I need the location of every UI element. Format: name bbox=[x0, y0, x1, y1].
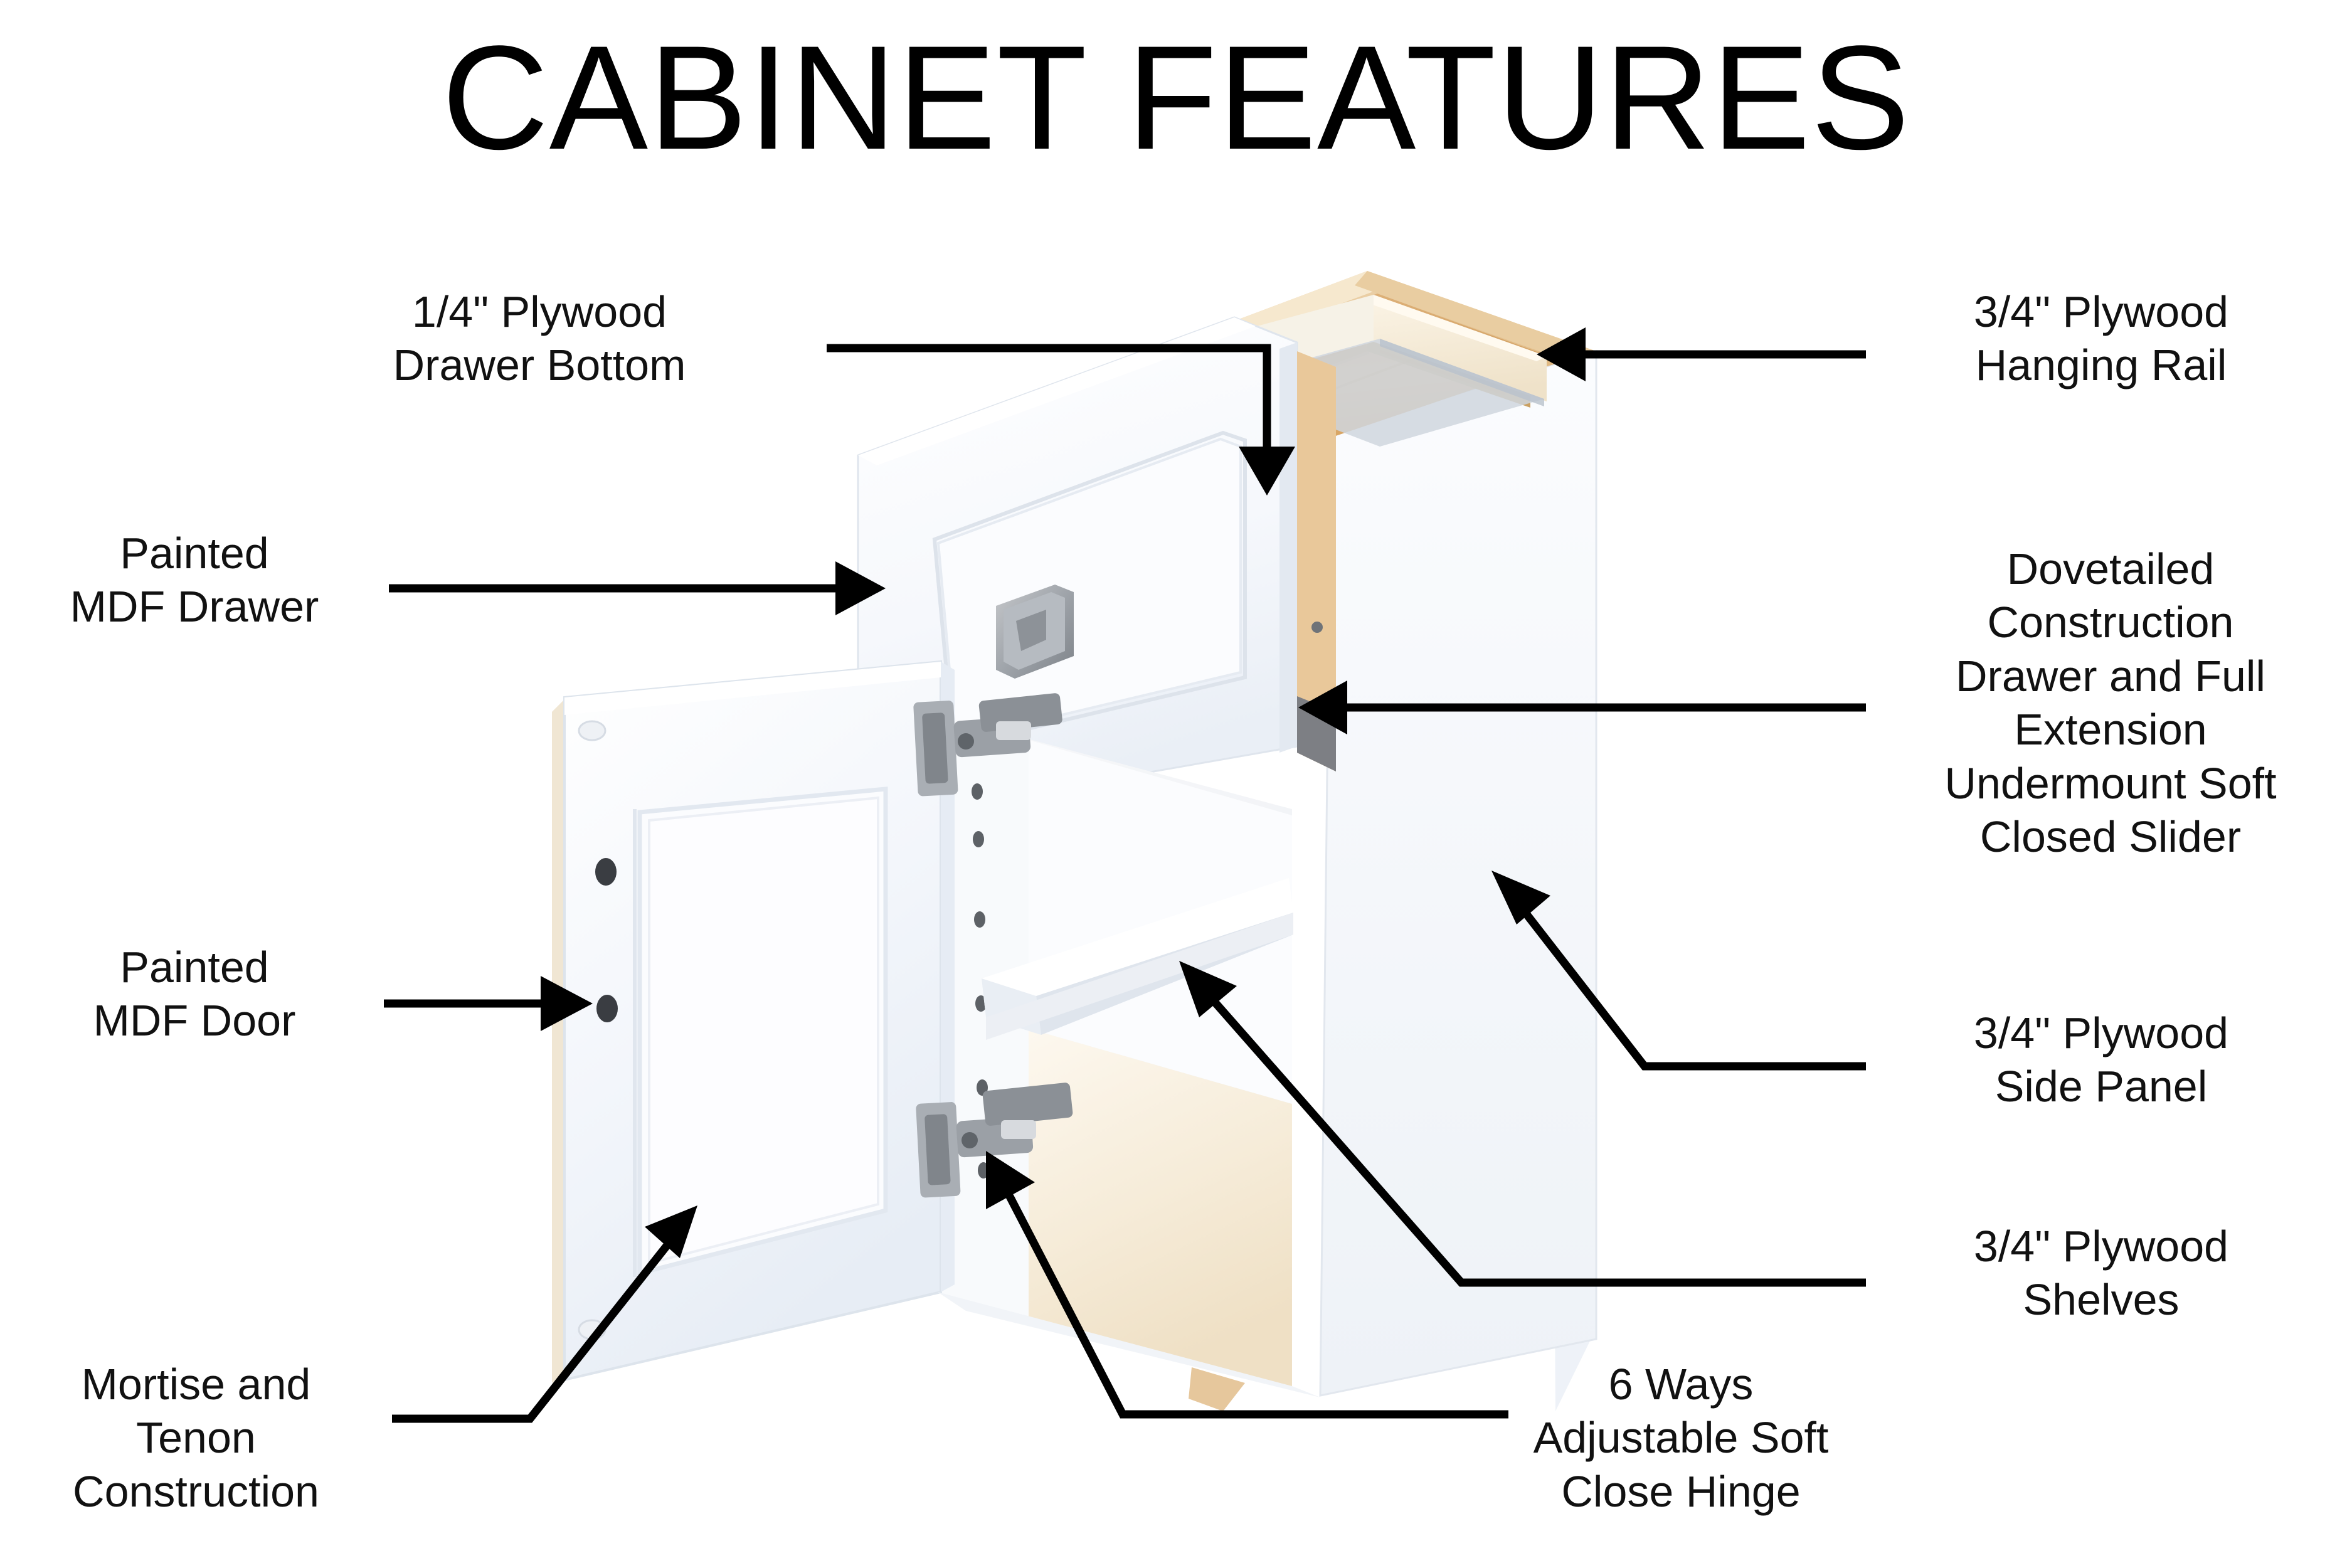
callout-dovetail-slider: Dovetailed Construction Drawer and Full … bbox=[1878, 543, 2343, 864]
callout-shelves: 3/4" Plywood Shelves bbox=[1882, 1220, 2321, 1327]
cabinet-door bbox=[552, 662, 955, 1383]
infographic-canvas: CABINET FEATURES bbox=[0, 0, 2352, 1568]
cabinet-interior bbox=[938, 715, 1292, 1389]
callout-hanging-rail: 3/4" Plywood Hanging Rail bbox=[1882, 285, 2321, 393]
leader-painted-mdf-drawer bbox=[389, 561, 886, 615]
cabinet-side-panel-face bbox=[1320, 351, 1596, 1396]
callout-soft-close-hinge: 6 Ways Adjustable Soft Close Hinge bbox=[1486, 1358, 1875, 1518]
callout-painted-mdf-door: Painted MDF Door bbox=[13, 941, 376, 1048]
callout-painted-mdf-drawer: Painted MDF Drawer bbox=[13, 527, 376, 634]
callout-side-panel: 3/4" Plywood Side Panel bbox=[1882, 1007, 2321, 1114]
callout-drawer-bottom: 1/4" Plywood Drawer Bottom bbox=[339, 285, 740, 393]
callout-mortise-tenon: Mortise and Tenon Construction bbox=[13, 1358, 379, 1518]
